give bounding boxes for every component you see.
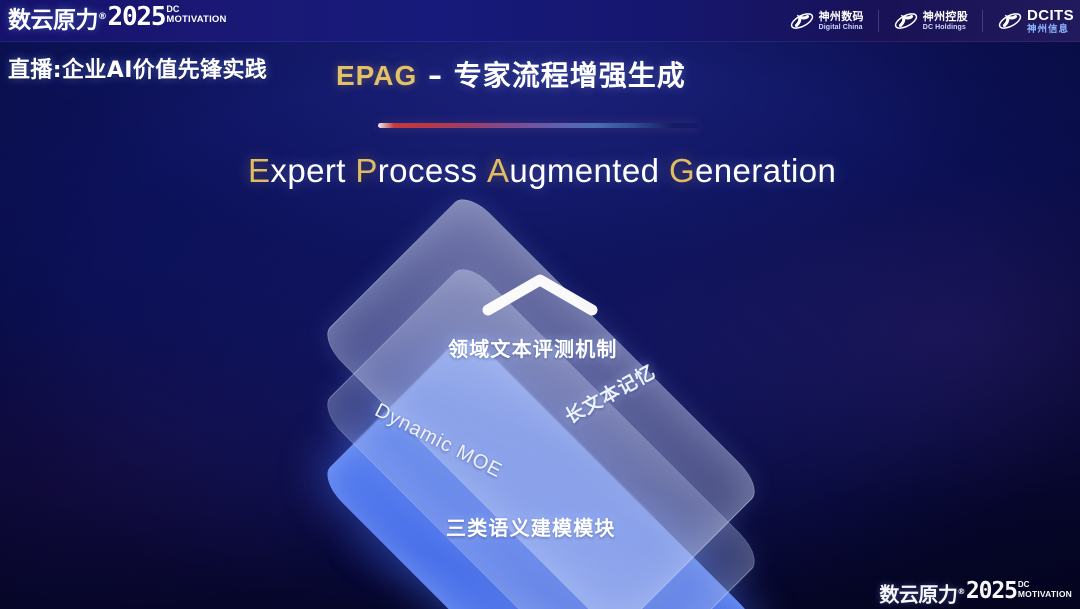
partner-logo-digital-china: 神州数码 Digital China — [789, 9, 864, 33]
swoosh-icon — [997, 9, 1023, 33]
partner-name-en: DCITS — [1027, 8, 1074, 24]
subtitle-cap-g: G — [669, 152, 695, 189]
partner-label: 神州控股 DC Holdings — [923, 11, 968, 32]
watermark-dc-line1: DC — [1018, 581, 1072, 589]
watermark-name-cn: 数云原力® — [879, 580, 965, 607]
live-stream-title: 直播:企业AI价值先锋实践 — [8, 52, 267, 84]
subtitle-rest-augmented: ugmented — [509, 152, 659, 189]
subtitle-cap-e: E — [248, 152, 270, 189]
partner-label: 神州数码 Digital China — [819, 11, 864, 32]
layer-top-label: 领域文本评测机制 — [448, 333, 618, 362]
title-chinese: 专家流程增强生成 — [454, 59, 686, 92]
registered-mark-icon: ® — [98, 12, 107, 22]
subtitle-cap-a: A — [487, 152, 509, 189]
partner-logo-dc-holdings: 神州控股 DC Holdings — [893, 9, 968, 33]
page-title: EPAG – 专家流程增强生成 — [336, 54, 686, 94]
partner-divider — [982, 10, 983, 32]
watermark-year: 2025 — [966, 580, 1017, 603]
title-acronym: EPAG — [336, 60, 417, 91]
brand-dc-motivation: DC MOTIVATION — [166, 5, 226, 25]
brand-logo: 数云原力® 2025 DC MOTIVATION — [8, 4, 227, 34]
swoosh-icon — [893, 9, 919, 33]
subtitle-expanded-acronym: Expert Process Augmented Generation — [248, 152, 836, 190]
layer-bottom-label: 三类语义建模模块 — [446, 512, 616, 541]
subtitle-rest-generation: eneration — [695, 152, 836, 189]
partner-label: DCITS 神州信息 — [1027, 8, 1074, 35]
registered-mark-icon: ® — [957, 587, 965, 596]
footer-watermark-logo: 数云原力® 2025 DC MOTIVATION — [879, 580, 1072, 607]
brand-name-cn: 数云原力® — [8, 4, 107, 34]
slide-canvas: 数云原力® 2025 DC MOTIVATION 直播:企业AI价值先锋实践 神… — [0, 0, 1080, 609]
gradient-divider — [378, 123, 698, 128]
subtitle-rest-process: rocess — [378, 152, 478, 189]
partner-logo-dcits: DCITS 神州信息 — [997, 8, 1074, 35]
brand-dc-line1: DC — [166, 5, 226, 14]
partner-name-cn: 神州数码 — [819, 11, 864, 23]
brand-dc-line2: MOTIVATION — [166, 14, 226, 25]
swoosh-icon — [789, 9, 815, 33]
partner-name-en: Digital China — [819, 23, 864, 32]
partner-name-en: DC Holdings — [923, 23, 968, 32]
chevron-up-icon — [480, 272, 600, 318]
watermark-dc-motivation: DC MOTIVATION — [1018, 581, 1072, 599]
title-separator: – — [417, 59, 454, 92]
partner-logo-group: 神州数码 Digital China 神州控股 DC Holdings — [789, 4, 1074, 38]
watermark-dc-line2: MOTIVATION — [1018, 589, 1072, 599]
partner-divider — [878, 10, 879, 32]
brand-year: 2025 — [108, 4, 166, 30]
subtitle-rest-expert: xpert — [270, 152, 345, 189]
subtitle-cap-p: P — [355, 152, 377, 189]
partner-name-cn: 神州控股 — [923, 11, 968, 23]
partner-name-cn: 神州信息 — [1027, 24, 1074, 35]
